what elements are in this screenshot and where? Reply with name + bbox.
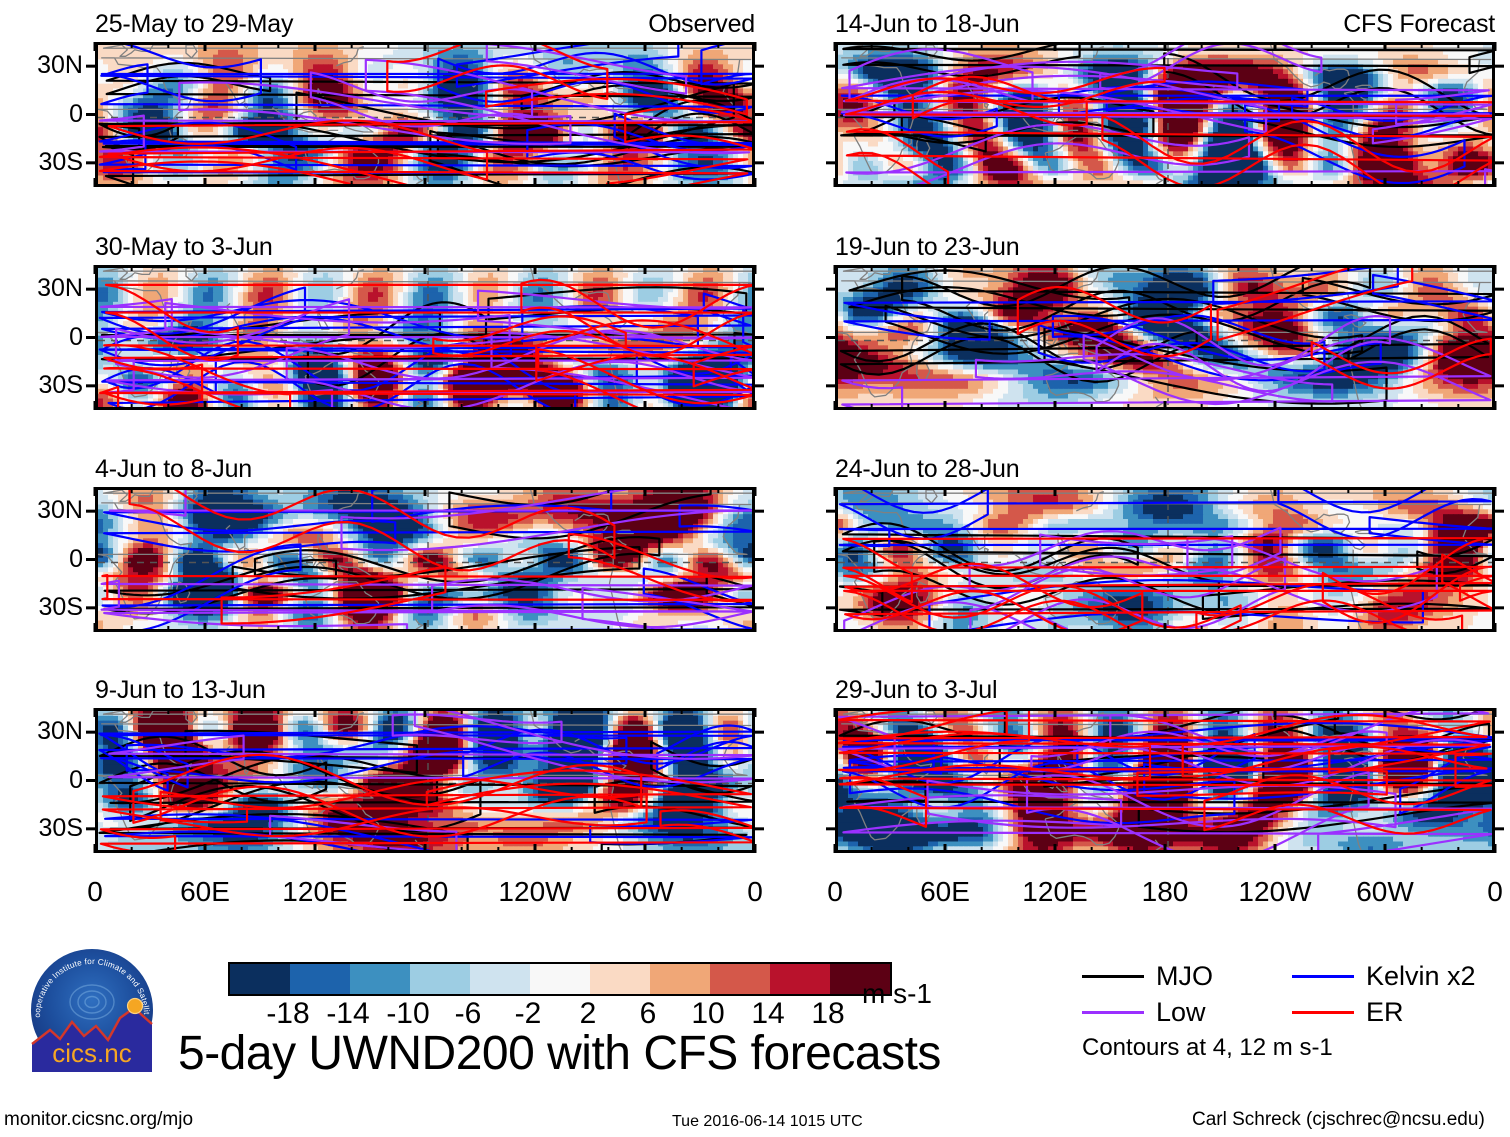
map-panel-fcs-3[interactable] xyxy=(835,487,1495,632)
map-panel-fcs-2[interactable] xyxy=(835,265,1495,410)
legend-line-icon xyxy=(1082,975,1144,978)
contour-legend: MJOKelvin x2LowER Contours at 4, 12 m s-… xyxy=(1082,963,1502,1060)
x-tick-label-0-0: 0 xyxy=(35,878,155,906)
map-panel-fcs-1[interactable] xyxy=(835,42,1495,187)
colorbar-strip xyxy=(228,962,892,996)
map-panel-obs-1[interactable] xyxy=(95,42,755,187)
colorbar-swatch-4 xyxy=(470,964,530,994)
legend-line-icon xyxy=(1292,975,1354,978)
panel-title-obs-3: 4-Jun to 8-Jun xyxy=(95,457,252,482)
panel-title-fcs-3: 24-Jun to 28-Jun xyxy=(835,457,1019,482)
colorbar-tick-4: -2 xyxy=(515,998,542,1030)
colorbar: -18-14-10-6-226101418 xyxy=(228,962,892,1032)
colorbar-tick-3: -6 xyxy=(455,998,482,1030)
colorbar-tick-2: -10 xyxy=(386,998,429,1030)
legend-label: Kelvin x2 xyxy=(1366,963,1476,990)
map-panel-obs-2[interactable] xyxy=(95,265,755,410)
colorbar-tick-9: 18 xyxy=(811,998,844,1030)
y-tick-label-30S: 30S xyxy=(3,373,83,398)
legend-label: ER xyxy=(1366,999,1404,1026)
panel-title-fcs-4: 29-Jun to 3-Jul xyxy=(835,678,997,703)
y-tick-label-0: 0 xyxy=(3,768,83,793)
legend-row-0: MJOKelvin x2 xyxy=(1082,963,1502,990)
colorbar-tick-8: 14 xyxy=(751,998,784,1030)
map-panel-obs-3[interactable] xyxy=(95,487,755,632)
figure-title: 5-day UWND200 with CFS forecasts xyxy=(178,1028,941,1080)
y-tick-label-30N: 30N xyxy=(3,498,83,523)
x-tick-label-0-4: 120W xyxy=(475,878,595,906)
colorbar-tick-6: 6 xyxy=(640,998,657,1030)
legend-item-low: Low xyxy=(1082,999,1292,1026)
x-tick-label-1-4: 120W xyxy=(1215,878,1335,906)
colorbar-swatch-1 xyxy=(290,964,350,994)
legend-item-mjo: MJO xyxy=(1082,963,1292,990)
colorbar-swatch-2 xyxy=(350,964,410,994)
y-tick-label-0: 0 xyxy=(3,102,83,127)
legend-line-icon xyxy=(1082,1011,1144,1014)
panel-title-obs-4: 9-Jun to 13-Jun xyxy=(95,678,266,703)
colorbar-swatch-6 xyxy=(590,964,650,994)
x-tick-label-1-5: 60W xyxy=(1325,878,1445,906)
colorbar-tick-7: 10 xyxy=(691,998,724,1030)
column-header-left: Observed xyxy=(95,12,755,37)
y-tick-label-30S: 30S xyxy=(3,816,83,841)
panel-title-obs-2: 30-May to 3-Jun xyxy=(95,235,273,260)
legend-label: MJO xyxy=(1156,963,1213,990)
legend-line-icon xyxy=(1292,1011,1354,1014)
colorbar-swatch-3 xyxy=(410,964,470,994)
colorbar-units-label: m s-1 xyxy=(862,978,932,1010)
x-tick-label-1-2: 120E xyxy=(995,878,1115,906)
y-tick-label-30S: 30S xyxy=(3,150,83,175)
map-panel-obs-4[interactable] xyxy=(95,708,755,853)
colorbar-swatch-7 xyxy=(650,964,710,994)
colorbar-tick-1: -14 xyxy=(326,998,369,1030)
footer-url[interactable]: monitor.cicsnc.org/mjo xyxy=(4,1110,193,1130)
panel-title-fcs-2: 19-Jun to 23-Jun xyxy=(835,235,1019,260)
logo-wordmark: cics.nc xyxy=(52,1038,131,1068)
x-tick-label-1-3: 180 xyxy=(1105,878,1225,906)
x-tick-label-0-5: 60W xyxy=(585,878,705,906)
y-tick-label-0: 0 xyxy=(3,325,83,350)
y-tick-label-30N: 30N xyxy=(3,276,83,301)
colorbar-swatch-8 xyxy=(710,964,770,994)
colorbar-tick-5: 2 xyxy=(580,998,597,1030)
x-tick-label-0-3: 180 xyxy=(365,878,485,906)
footer-timestamp: Tue 2016-06-14 1015 UTC xyxy=(672,1112,863,1132)
legend-item-er: ER xyxy=(1292,999,1502,1026)
y-tick-label-30N: 30N xyxy=(3,719,83,744)
column-header-right: CFS Forecast xyxy=(835,12,1495,37)
y-tick-label-0: 0 xyxy=(3,547,83,572)
colorbar-swatch-0 xyxy=(230,964,290,994)
x-tick-label-1-0: 0 xyxy=(775,878,895,906)
colorbar-swatch-9 xyxy=(770,964,830,994)
colorbar-swatch-5 xyxy=(530,964,590,994)
legend-row-1: LowER xyxy=(1082,999,1502,1026)
cics-nc-logo: Cooperative Institute for Climate and Sa… xyxy=(22,940,162,1080)
y-tick-label-30N: 30N xyxy=(3,53,83,78)
x-tick-label-0-1: 60E xyxy=(145,878,265,906)
x-tick-label-1-6: 0 xyxy=(1435,878,1510,906)
x-tick-label-0-2: 120E xyxy=(255,878,375,906)
legend-contour-note: Contours at 4, 12 m s-1 xyxy=(1082,1036,1502,1060)
footer-author: Carl Schreck (cjschrec@ncsu.edu) xyxy=(1192,1110,1485,1130)
colorbar-tick-0: -18 xyxy=(266,998,309,1030)
x-tick-label-1-1: 60E xyxy=(885,878,1005,906)
legend-label: Low xyxy=(1156,999,1206,1026)
y-tick-label-30S: 30S xyxy=(3,595,83,620)
map-panel-fcs-4[interactable] xyxy=(835,708,1495,853)
legend-item-kelvin-x2: Kelvin x2 xyxy=(1292,963,1502,990)
